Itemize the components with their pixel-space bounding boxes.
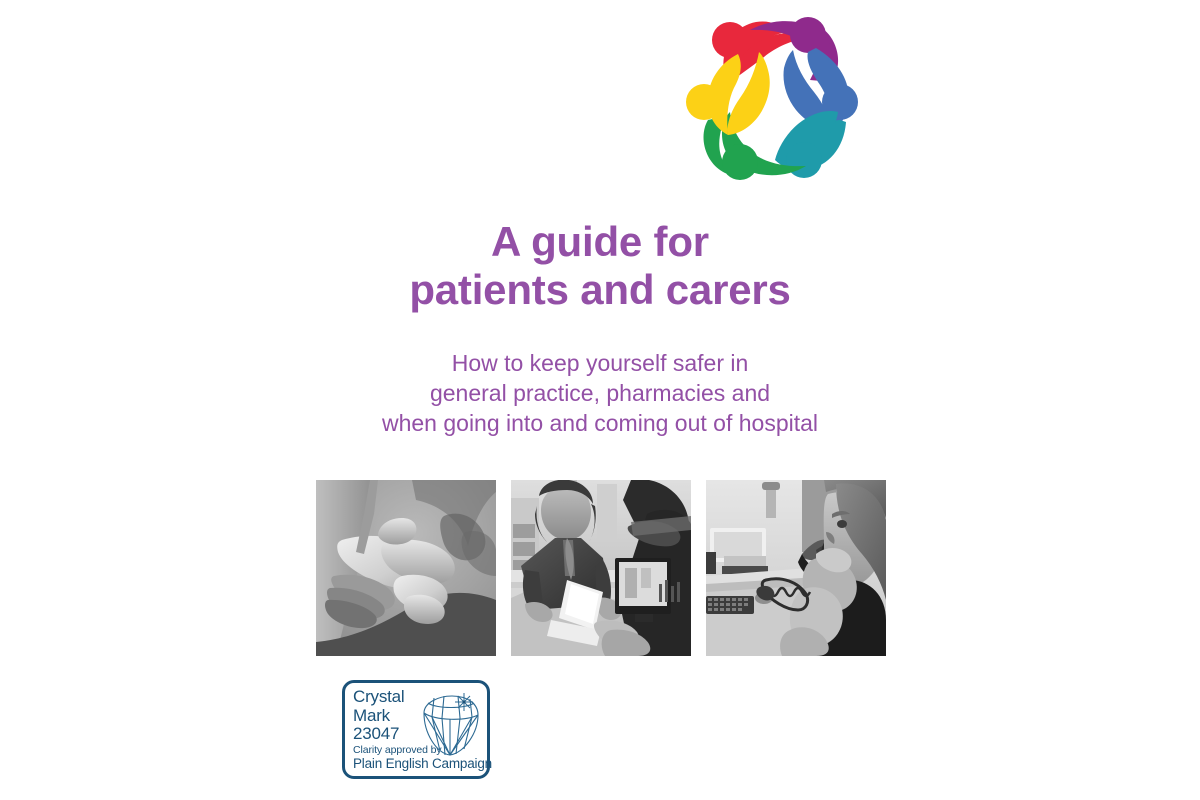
photo-receptionist-phone bbox=[706, 480, 886, 656]
subtitle-line-1: How to keep yourself safer in bbox=[0, 348, 1200, 378]
page-title: A guide for patients and carers bbox=[0, 218, 1200, 314]
crystal-mark-badge: Crystal Mark 23047 Clarity approved by P… bbox=[342, 680, 490, 779]
subtitle-line-2: general practice, pharmacies and bbox=[0, 378, 1200, 408]
circle-of-people-logo bbox=[668, 2, 878, 202]
title-line-1: A guide for bbox=[0, 218, 1200, 266]
subtitle-line-3: when going into and coming out of hospit… bbox=[0, 408, 1200, 438]
photo-hands-clasped bbox=[316, 480, 496, 656]
cover-photo-strip bbox=[316, 480, 886, 656]
title-line-2: patients and carers bbox=[0, 266, 1200, 314]
photo-pharmacy-counter bbox=[511, 480, 691, 656]
document-cover-page: A guide for patients and carers How to k… bbox=[0, 0, 1200, 800]
diamond-icon bbox=[414, 689, 484, 761]
page-subtitle: How to keep yourself safer in general pr… bbox=[0, 348, 1200, 438]
